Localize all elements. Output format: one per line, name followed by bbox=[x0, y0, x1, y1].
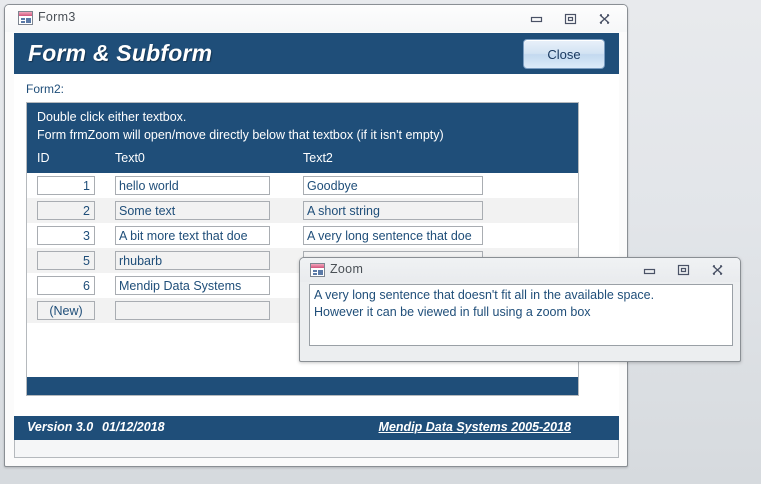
row-id-field[interactable]: 3 bbox=[37, 226, 95, 245]
zoom-text-line-1: A very long sentence that doesn't fit al… bbox=[314, 287, 728, 304]
restore-icon[interactable] bbox=[666, 258, 700, 282]
row-text2-field[interactable]: A very long sentence that doe bbox=[303, 226, 483, 245]
table-row[interactable]: 2 Some text A short string bbox=[27, 198, 578, 223]
row-text0-field[interactable]: rhubarb bbox=[115, 251, 270, 270]
form-body: Form2: Double click either textbox. Form… bbox=[14, 74, 619, 416]
banner-instruction-line-1: Double click either textbox. bbox=[37, 110, 186, 124]
subform-banner: Double click either textbox. Form frmZoo… bbox=[27, 103, 578, 173]
zoom-window-title: Zoom bbox=[330, 262, 363, 276]
main-window: Form3 Form & Subform Close Form2: Double… bbox=[4, 4, 628, 467]
copyright-link[interactable]: Mendip Data Systems 2005-2018 bbox=[379, 420, 571, 434]
row-text0-field[interactable] bbox=[115, 301, 270, 320]
form-footer-band: Version 3.0 01/12/2018 Mendip Data Syste… bbox=[14, 416, 619, 440]
zoom-text-line-2: However it can be viewed in full using a… bbox=[314, 304, 728, 321]
zoom-window-titlebar[interactable]: Zoom bbox=[300, 258, 740, 282]
banner-instruction-line-2: Form frmZoom will open/move directly bel… bbox=[37, 128, 444, 142]
zoom-window: Zoom A very long sentence that doesn't f… bbox=[299, 257, 741, 362]
row-text0-field[interactable]: A bit more text that doe bbox=[115, 226, 270, 245]
table-row[interactable]: 1 hello world Goodbye bbox=[27, 173, 578, 198]
table-row[interactable]: 3 A bit more text that doe A very long s… bbox=[27, 223, 578, 248]
subform-footer-band bbox=[27, 377, 578, 395]
subform-label: Form2: bbox=[26, 82, 64, 96]
row-text0-field[interactable]: Mendip Data Systems bbox=[115, 276, 270, 295]
form-bottom-strip bbox=[14, 440, 619, 458]
zoom-window-controls bbox=[632, 258, 734, 282]
main-window-titlebar[interactable]: Form3 bbox=[5, 5, 627, 32]
row-id-field[interactable]: 1 bbox=[37, 176, 95, 195]
access-form-icon bbox=[18, 11, 33, 25]
column-header-text0: Text0 bbox=[115, 151, 145, 165]
page-title: Form & Subform bbox=[28, 40, 212, 67]
row-id-field[interactable]: 5 bbox=[37, 251, 95, 270]
row-id-field[interactable]: 6 bbox=[37, 276, 95, 295]
main-window-controls bbox=[519, 5, 621, 32]
zoom-textarea[interactable]: A very long sentence that doesn't fit al… bbox=[309, 284, 733, 346]
main-window-title: Form3 bbox=[38, 10, 76, 24]
minimize-icon[interactable] bbox=[519, 7, 553, 31]
row-text0-field[interactable]: Some text bbox=[115, 201, 270, 220]
access-form-icon bbox=[310, 263, 325, 277]
restore-icon[interactable] bbox=[553, 7, 587, 31]
column-header-text2: Text2 bbox=[303, 151, 333, 165]
form-header-band: Form & Subform Close bbox=[14, 33, 619, 74]
row-id-field[interactable]: 2 bbox=[37, 201, 95, 220]
close-icon[interactable] bbox=[700, 258, 734, 282]
row-text2-field[interactable]: Goodbye bbox=[303, 176, 483, 195]
column-header-id: ID bbox=[37, 151, 50, 165]
close-button[interactable]: Close bbox=[523, 39, 605, 69]
version-label: Version 3.0 bbox=[27, 420, 93, 434]
minimize-icon[interactable] bbox=[632, 258, 666, 282]
row-text2-field[interactable]: A short string bbox=[303, 201, 483, 220]
row-text0-field[interactable]: hello world bbox=[115, 176, 270, 195]
close-icon[interactable] bbox=[587, 7, 621, 31]
row-id-field[interactable]: (New) bbox=[37, 301, 95, 320]
date-label: 01/12/2018 bbox=[102, 420, 165, 434]
